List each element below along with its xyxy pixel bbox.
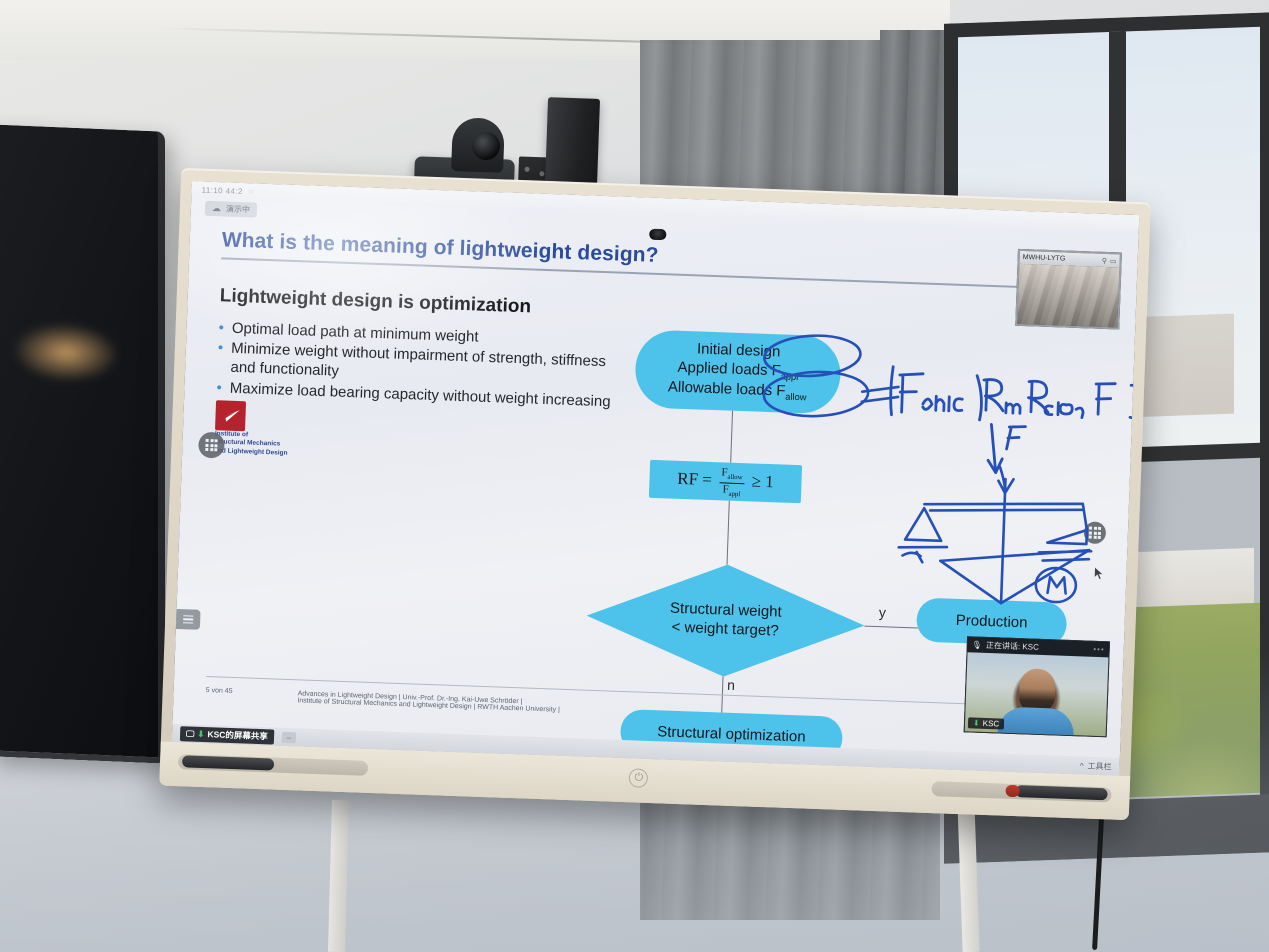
tile-icons: ⚲ ▭ [1102,256,1117,265]
presenting-chip-label: 演示中 [226,203,250,215]
flow-edge [727,501,731,565]
panel-camera [650,229,667,241]
bullet-marker: • [218,319,224,338]
decision-line-2: < weight target? [671,619,779,642]
screen: 11:10 44:2 ◌ ☁ 演示中 What is the meaning o… [172,181,1139,776]
allowable-loads-text: Allowable loads F [668,379,786,400]
bullet-marker: • [217,340,224,378]
formula-lhs: RF = [677,469,712,489]
panel-bezel: 11:10 44:2 ◌ ☁ 演示中 What is the meaning o… [172,181,1139,776]
screen-share-indicator[interactable]: 🖵 ⬇ KSC的屏幕共享 [180,726,274,744]
tile-name-label: MWHU-LYTG [1023,254,1066,263]
share-label: KSC的屏幕共享 [207,728,268,742]
status-circle-icon: ◌ [249,187,254,196]
more-dots-icon[interactable]: ••• [1093,645,1105,654]
chat-icon[interactable]: ▭ [1110,257,1117,265]
minimize-button[interactable]: – [282,731,296,742]
bullet-list: • Optimal load path at minimum weight • … [216,319,629,413]
formula-rhs: ≥ 1 [751,471,774,491]
menu-lines-icon [183,615,193,624]
flow-edge [730,411,733,463]
apps-grid-icon [205,439,218,452]
room-scene: 11:10 44:2 ◌ ☁ 演示中 What is the meaning o… [0,0,1269,952]
mouse-cursor [1093,566,1105,584]
power-button[interactable]: ⏻ [629,768,649,788]
side-menu-tab[interactable] [176,609,201,630]
cloud-icon: ☁ [212,203,221,214]
display-glare [12,320,120,385]
participant-tile-speaker[interactable]: 🎙 正在讲话: KSC ••• ⬇ KSC [964,636,1110,737]
footer-credits: Advances in Lightweight Design | Univ.-P… [297,690,560,713]
formula-fraction: Fallow Fappl [719,466,745,499]
toolbar-toggle[interactable]: ^ 工具栏 [1080,760,1112,772]
speaking-status: 正在讲话: KSC [986,640,1039,653]
speaker-video-feed: ⬇ KSC [965,652,1109,736]
speaker-name: KSC [983,719,1000,729]
stylus-red-tip[interactable] [1005,785,1019,797]
chevron-up-icon: ^ [1080,761,1084,770]
microphone-icon: 🎙 [972,640,982,649]
screen-share-icon: 🖵 [186,728,195,739]
allowable-loads-subscript: allow [785,392,807,403]
room-video-feed [1017,264,1119,328]
edge-label-yes: y [879,604,887,620]
flow-node-initial-design: Initial design Applied loads Fappl Allow… [634,329,842,414]
speaker-name-badge: ⬇ KSC [968,717,1005,729]
flow-node-reserve-factor: RF = Fallow Fappl ≥ 1 [649,460,802,503]
fraction-numerator: Fallow [719,466,745,484]
page-number: 5 von 45 [206,687,248,695]
formula: RF = Fallow Fappl ≥ 1 [677,464,775,500]
paper-plane-icon [215,400,246,431]
node-line-3: Allowable loads Fallow [668,379,807,405]
edge-label-no: n [727,677,735,693]
toolbar-label: 工具栏 [1087,760,1111,772]
interactive-flat-panel: 11:10 44:2 ◌ ☁ 演示中 What is the meaning o… [159,168,1150,820]
flow-edge [864,626,918,629]
speaker-torso [997,706,1074,735]
pin-icon[interactable]: ⚲ [1102,256,1107,264]
apps-grid-icon [1089,526,1102,539]
fraction-denominator: Fappl [720,483,742,499]
participant-tile-room[interactable]: MWHU-LYTG ⚲ ▭ [1015,249,1122,330]
download-icon: ⬇ [197,728,205,739]
download-icon: ⬇ [973,719,980,728]
system-clock: 11:10 44:2 [201,186,243,196]
applied-loads-text: Applied loads F [677,358,781,379]
wall-mounted-display-left [0,124,165,763]
slide-title: What is the meaning of lightweight desig… [221,228,1113,284]
bullet-marker: • [216,379,222,398]
applied-loads-subscript: appl [781,371,799,382]
flow-node-decision: Structural weight < weight target? [585,560,867,682]
